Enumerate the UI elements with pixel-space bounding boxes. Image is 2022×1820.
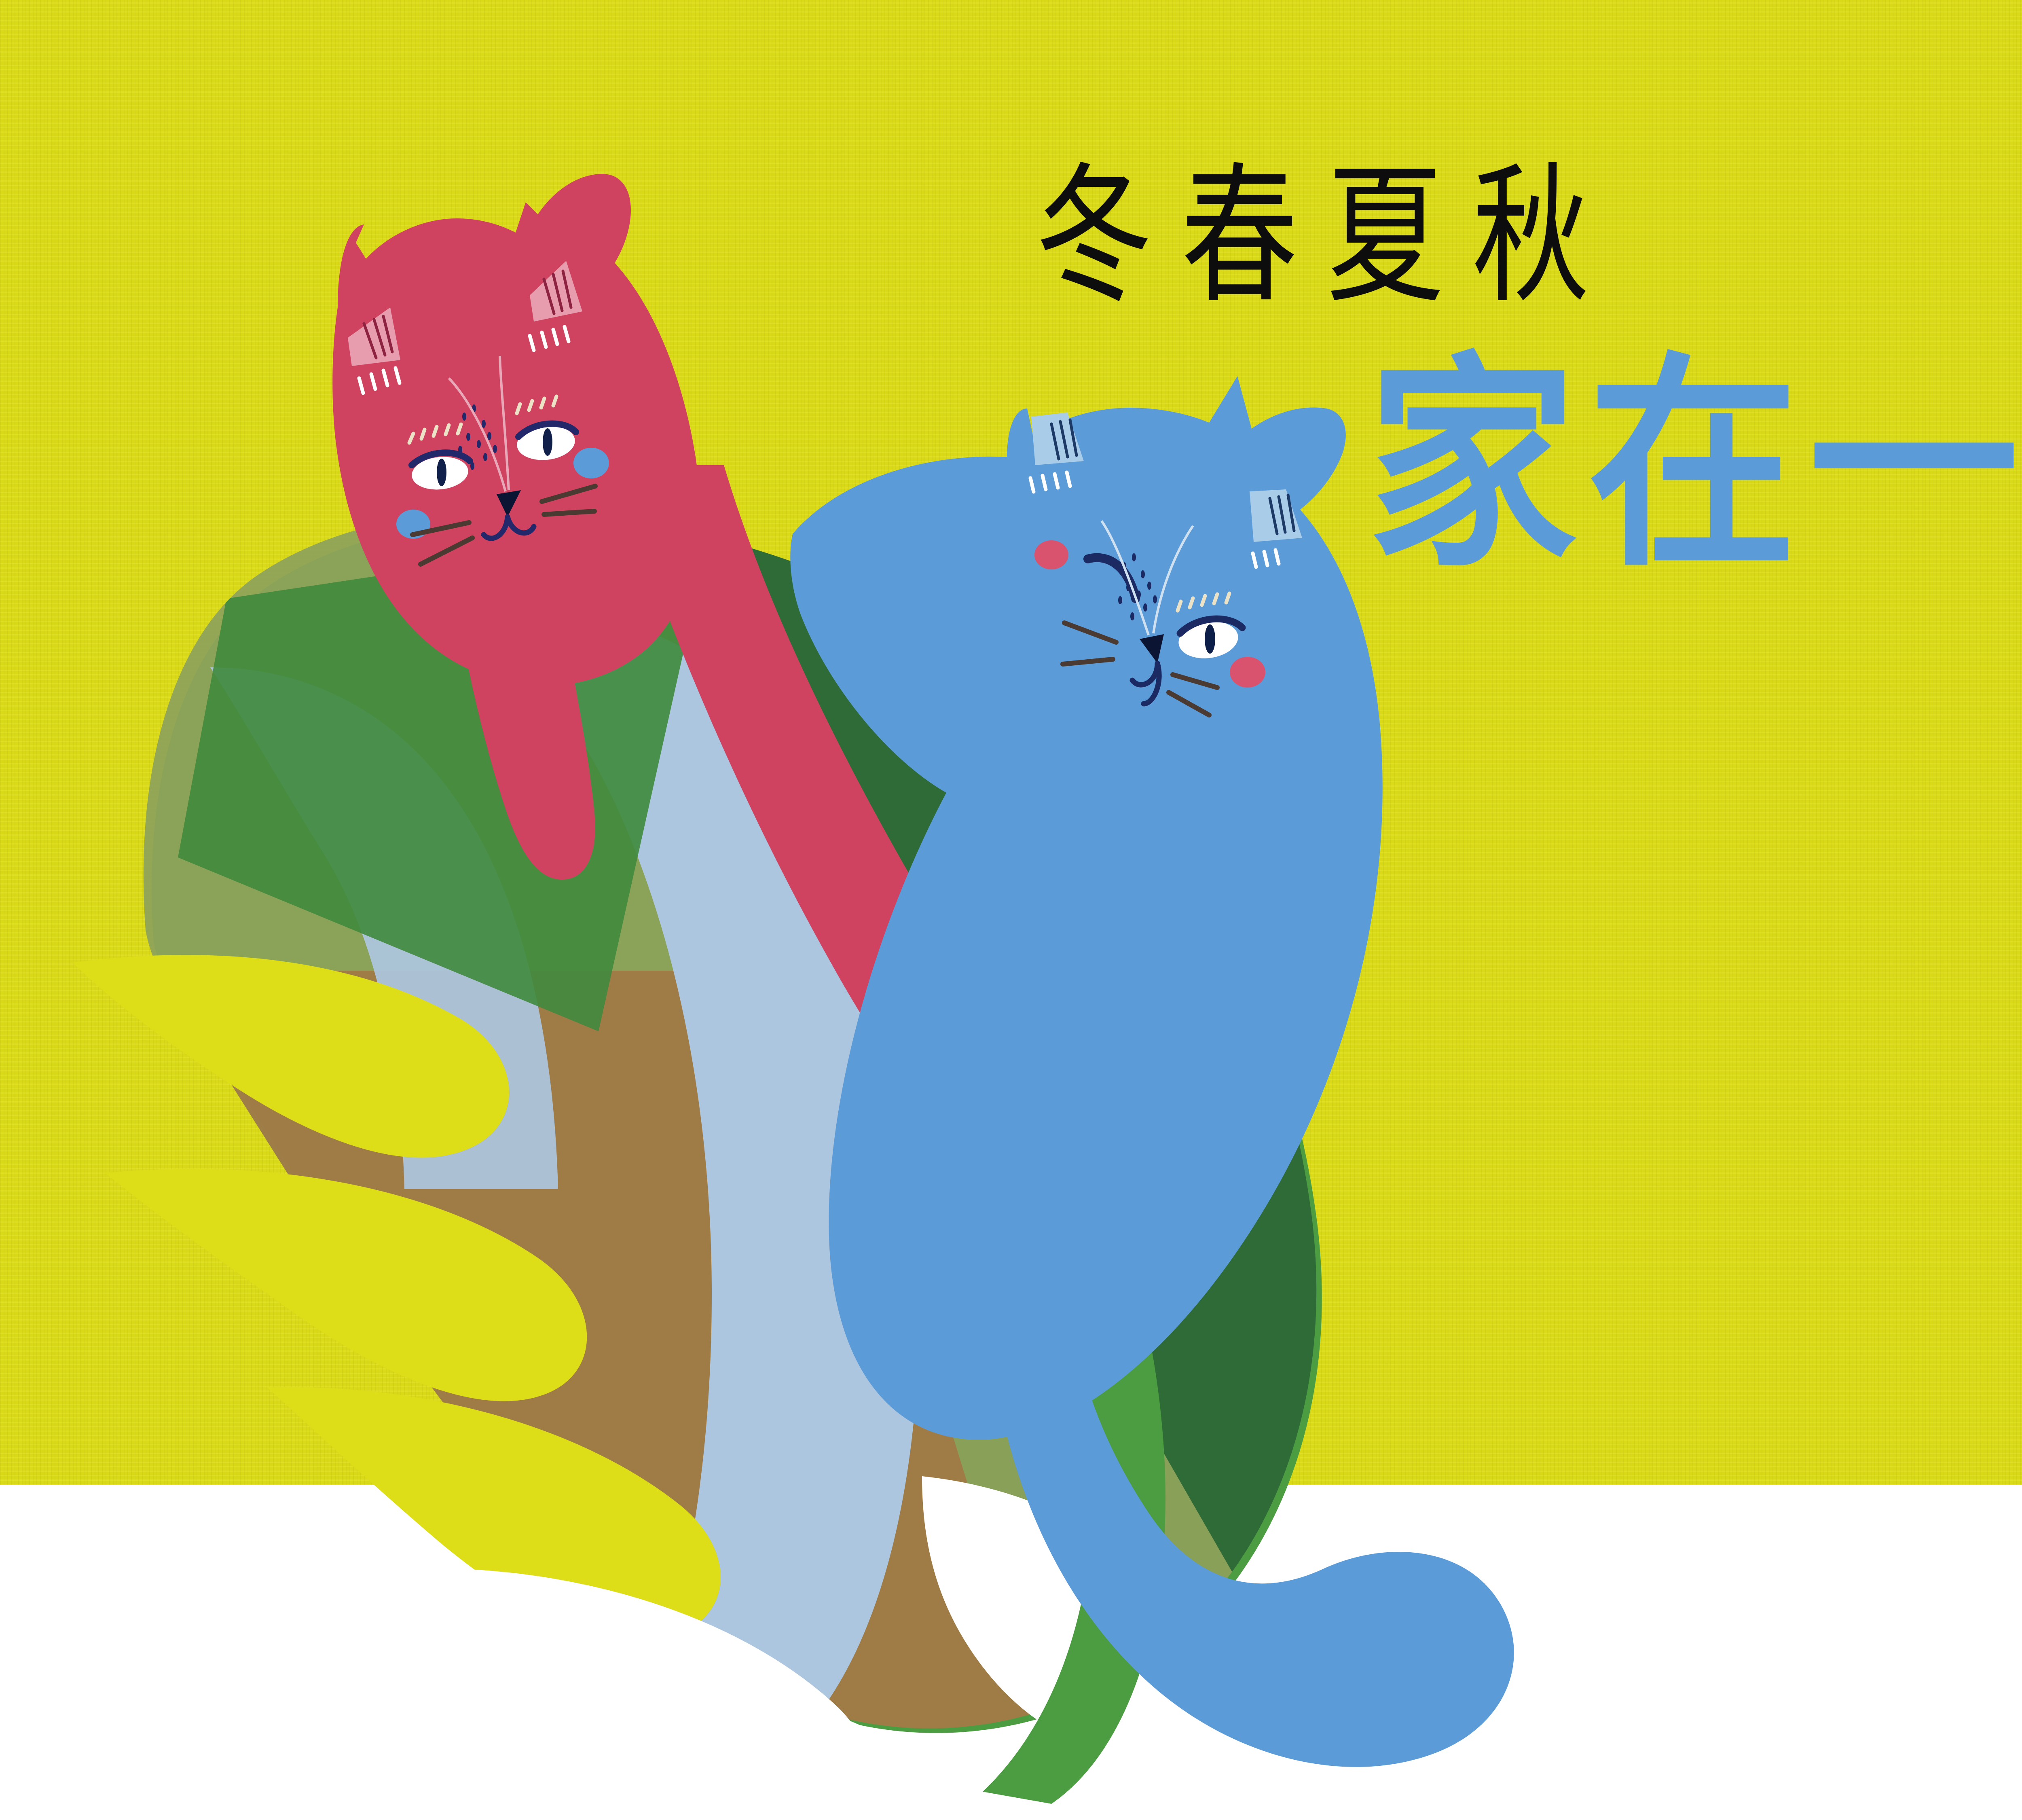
headline-seasons: 冬春夏秋 bbox=[1035, 162, 1618, 312]
headline-slogan: 家在一起。 bbox=[1367, 352, 2022, 579]
blue-cat-pupil bbox=[1205, 624, 1215, 654]
blue-cat-cheek-right bbox=[1230, 657, 1265, 688]
red-cat-pupil-right bbox=[543, 428, 552, 456]
blue-cat-cheek-left bbox=[1034, 540, 1068, 569]
red-cat-pupil-left bbox=[437, 459, 446, 486]
red-cat-cheek-right bbox=[573, 448, 609, 478]
cats-and-leaf-illustration bbox=[0, 0, 2022, 1820]
poster-canvas: 冬春夏秋 家在一起。 太睿四季 雋永臻品，家之所嚮 bbox=[0, 0, 2022, 1820]
